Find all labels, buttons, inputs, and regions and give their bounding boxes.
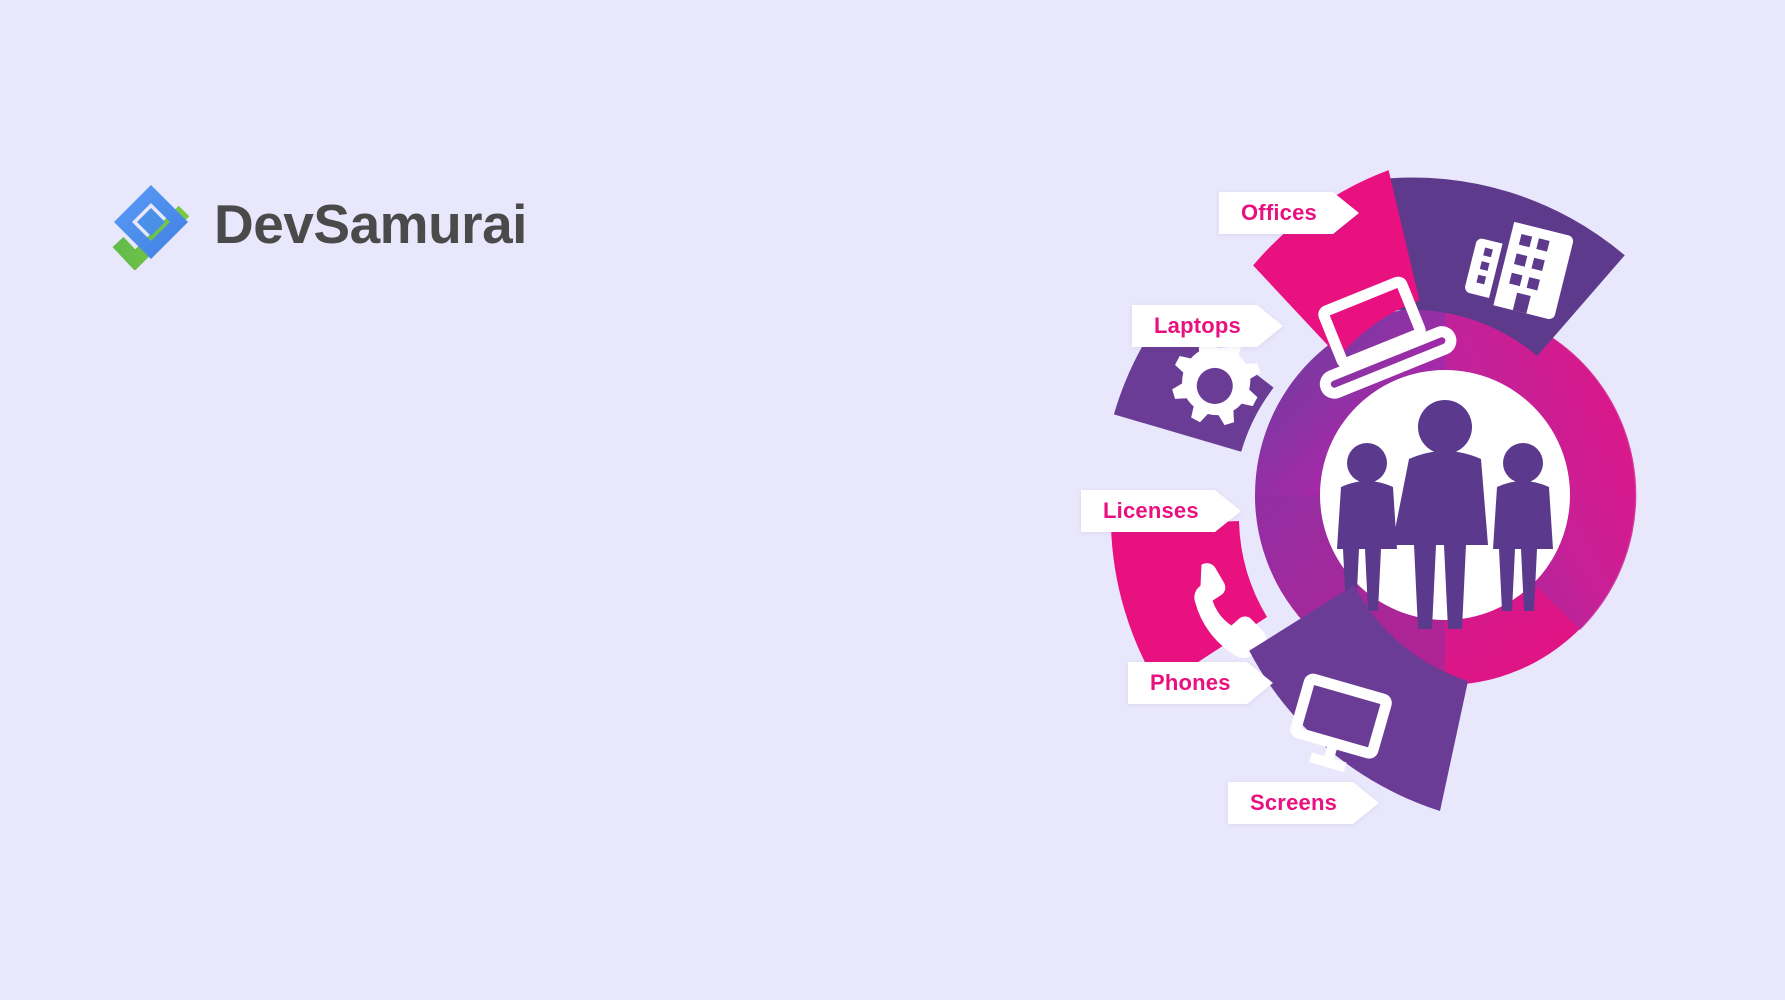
callout-phones[interactable]: Phones (1128, 662, 1273, 704)
callout-offices[interactable]: Offices (1219, 192, 1359, 234)
slide-canvas: DevSamurai (0, 0, 1785, 1000)
arrow-right-icon (1257, 305, 1283, 347)
brand-name: DevSamurai (214, 197, 527, 252)
arrow-right-icon (1333, 192, 1359, 234)
callout-phones-label: Phones (1150, 672, 1231, 694)
devsamurai-diamond-check-logo-icon (104, 178, 192, 270)
callout-licenses-label: Licenses (1103, 500, 1199, 522)
arrow-right-icon (1215, 490, 1241, 532)
callout-screens[interactable]: Screens (1228, 782, 1379, 824)
arrow-right-icon (1247, 662, 1273, 704)
callout-offices-label: Offices (1241, 202, 1317, 224)
callout-screens-tag: Screens (1228, 782, 1353, 824)
callout-phones-tag: Phones (1128, 662, 1247, 704)
callout-laptops-label: Laptops (1154, 315, 1241, 337)
callout-screens-label: Screens (1250, 792, 1337, 814)
callout-licenses-tag: Licenses (1081, 490, 1215, 532)
callout-offices-tag: Offices (1219, 192, 1333, 234)
callout-laptops[interactable]: Laptops (1132, 305, 1283, 347)
brand-logo: DevSamurai (104, 178, 527, 270)
callout-licenses[interactable]: Licenses (1081, 490, 1241, 532)
arrow-right-icon (1353, 782, 1379, 824)
callout-laptops-tag: Laptops (1132, 305, 1257, 347)
